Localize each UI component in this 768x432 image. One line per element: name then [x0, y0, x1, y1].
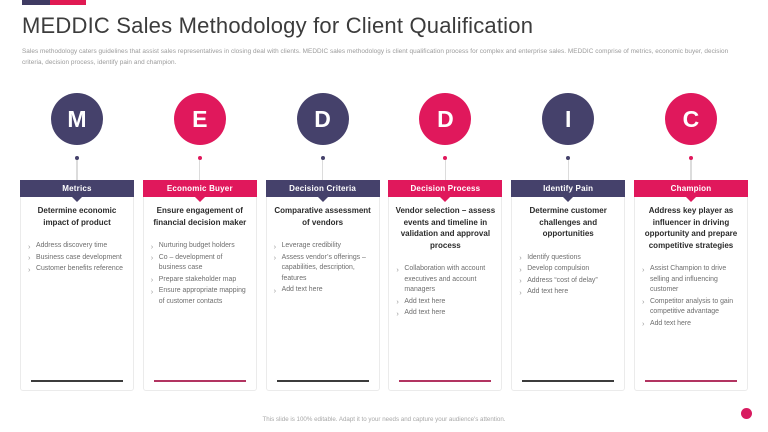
list-item[interactable]: Add text here — [395, 297, 495, 307]
list-item[interactable]: Address discovery time — [27, 241, 127, 251]
list-item[interactable]: Nurturing budget holders — [150, 241, 250, 251]
list-item[interactable]: Add text here — [395, 308, 495, 318]
list-item[interactable]: Add text here — [518, 287, 618, 297]
connector — [634, 153, 748, 180]
column-card: Determine customer challenges and opport… — [511, 188, 625, 391]
footer-note: This slide is 100% editable. Adapt it to… — [0, 416, 768, 423]
bullet-list: Address discovery timeBusiness case deve… — [27, 241, 127, 274]
column-headline: Ensure engagement of financial decision … — [150, 205, 250, 228]
column-headline: Determine economic impact of product — [27, 205, 127, 228]
column-header-label: Decision Criteria — [289, 184, 356, 193]
list-item[interactable]: Customer benefits reference — [27, 264, 127, 274]
meddic-column-economic-buyer: EEconomic BuyerEnsure engagement of fina… — [143, 93, 257, 391]
card-accent-bar — [154, 380, 246, 382]
column-headline: Determine customer challenges and opport… — [518, 205, 618, 240]
page-title: MEDDIC Sales Methodology for Client Qual… — [22, 13, 533, 39]
column-card: Ensure engagement of financial decision … — [143, 188, 257, 391]
column-header-banner[interactable]: Decision Process — [388, 180, 502, 197]
meddic-column-metrics: MMetricsDetermine economic impact of pro… — [20, 93, 134, 391]
connector — [388, 153, 502, 180]
column-card: Determine economic impact of productAddr… — [20, 188, 134, 391]
meddic-column-identify-pain: IIdentify PainDetermine customer challen… — [511, 93, 625, 391]
column-header-label: Economic Buyer — [167, 184, 233, 193]
column-card: Address key player as influencer in driv… — [634, 188, 748, 391]
list-item[interactable]: Add text here — [273, 285, 373, 295]
letter-badge[interactable]: C — [665, 93, 717, 145]
column-header-label: Champion — [671, 184, 712, 193]
slide-canvas: MEDDIC Sales Methodology for Client Qual… — [0, 0, 768, 432]
connector — [511, 153, 625, 180]
decor-bar-navy — [22, 0, 50, 5]
list-item[interactable]: Add text here — [641, 319, 741, 329]
column-headline: Comparative assessment of vendors — [273, 205, 373, 228]
list-item[interactable]: Collaboration with account executives an… — [395, 264, 495, 295]
letter-badge[interactable]: D — [297, 93, 349, 145]
decor-bar-pink — [50, 0, 86, 5]
meddic-column-decision-process: DDecision ProcessVendor selection – asse… — [388, 93, 502, 391]
list-item[interactable]: Assess vendor’s offerings – capabilities… — [273, 253, 373, 284]
column-header-label: Decision Process — [410, 184, 480, 193]
column-header-label: Identify Pain — [543, 184, 593, 193]
column-header-label: Metrics — [62, 184, 91, 193]
column-card: Comparative assessment of vendorsLeverag… — [266, 188, 380, 391]
connector-line — [568, 160, 569, 180]
letter-badge[interactable]: E — [174, 93, 226, 145]
bullet-list: Identify questionsDevelop compulsionAddr… — [518, 253, 618, 298]
decor-top-bars — [22, 0, 86, 5]
list-item[interactable]: Prepare stakeholder map — [150, 275, 250, 285]
bullet-list: Collaboration with account executives an… — [395, 264, 495, 318]
list-item[interactable]: Competitor analysis to gain competitive … — [641, 297, 741, 318]
meddic-column-decision-criteria: DDecision CriteriaComparative assessment… — [266, 93, 380, 391]
list-item[interactable]: Co – development of business case — [150, 253, 250, 274]
bullet-list: Nurturing budget holdersCo – development… — [150, 241, 250, 307]
meddic-column-champion: CChampionAddress key player as influence… — [634, 93, 748, 391]
card-accent-bar — [399, 380, 491, 382]
connector — [266, 153, 380, 180]
column-header-banner[interactable]: Metrics — [20, 180, 134, 197]
connector-line — [690, 160, 691, 180]
list-item[interactable]: Assist Champion to drive selling and inf… — [641, 264, 741, 295]
letter-badge-wrap: E — [143, 93, 257, 153]
letter-badge-wrap: C — [634, 93, 748, 153]
corner-dot-decoration — [741, 408, 752, 419]
connector-line — [322, 160, 323, 180]
list-item[interactable]: Identify questions — [518, 253, 618, 263]
column-header-banner[interactable]: Economic Buyer — [143, 180, 257, 197]
list-item[interactable]: Develop compulsion — [518, 264, 618, 274]
connector-line — [445, 160, 446, 180]
letter-badge-wrap: D — [266, 93, 380, 153]
letter-badge[interactable]: M — [51, 93, 103, 145]
list-item[interactable]: Leverage credibility — [273, 241, 373, 251]
bullet-list: Leverage credibilityAssess vendor’s offe… — [273, 241, 373, 295]
letter-badge-wrap: I — [511, 93, 625, 153]
letter-badge-wrap: D — [388, 93, 502, 153]
connector — [20, 153, 134, 180]
page-subtitle: Sales methodology caters guidelines that… — [22, 46, 748, 68]
column-header-banner[interactable]: Champion — [634, 180, 748, 197]
letter-badge[interactable]: D — [419, 93, 471, 145]
card-accent-bar — [277, 380, 369, 382]
card-accent-bar — [31, 380, 123, 382]
letter-badge[interactable]: I — [542, 93, 594, 145]
card-accent-bar — [645, 380, 737, 382]
bullet-list: Assist Champion to drive selling and inf… — [641, 264, 741, 329]
list-item[interactable]: Business case development — [27, 253, 127, 263]
meddic-columns: MMetricsDetermine economic impact of pro… — [20, 93, 748, 391]
card-accent-bar — [522, 380, 614, 382]
letter-badge-wrap: M — [20, 93, 134, 153]
column-header-banner[interactable]: Identify Pain — [511, 180, 625, 197]
column-headline: Vendor selection – assess events and tim… — [395, 205, 495, 251]
connector-line — [76, 160, 77, 180]
column-card: Vendor selection – assess events and tim… — [388, 188, 502, 391]
column-headline: Address key player as influencer in driv… — [641, 205, 741, 251]
column-header-banner[interactable]: Decision Criteria — [266, 180, 380, 197]
connector — [143, 153, 257, 180]
connector-line — [199, 160, 200, 180]
list-item[interactable]: Ensure appropriate mapping of customer c… — [150, 286, 250, 307]
list-item[interactable]: Address “cost of delay” — [518, 276, 618, 286]
